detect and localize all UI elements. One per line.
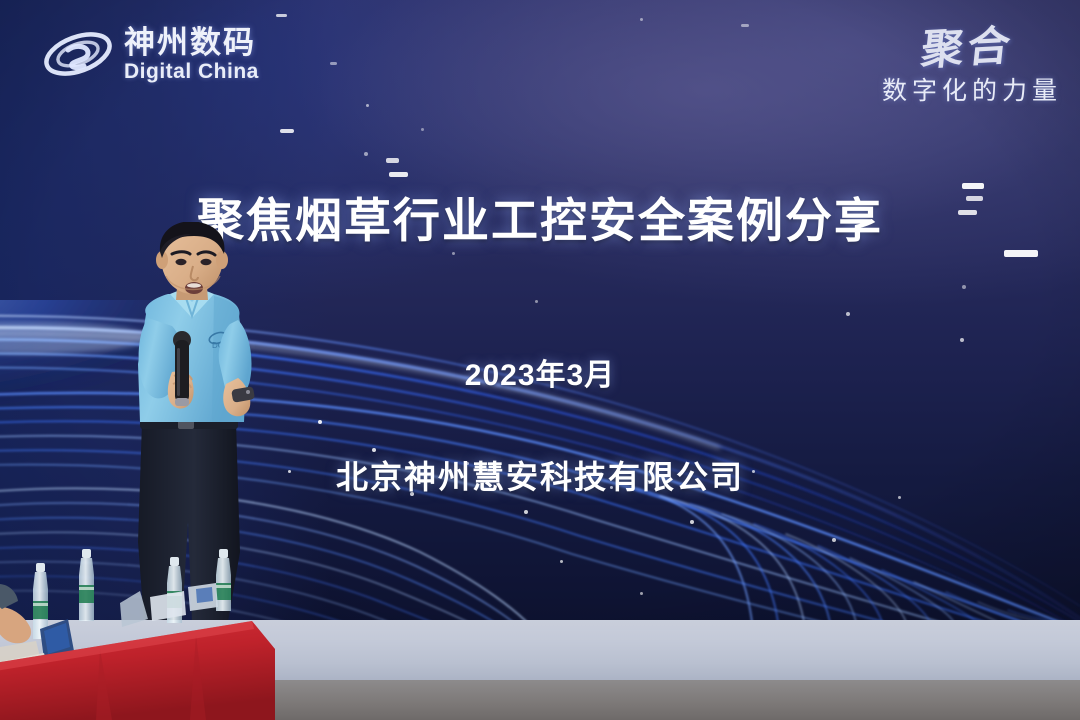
event-theme-logo: 聚合 数字化的力量 [792,14,1062,114]
panel-table [0,545,275,720]
microphone [173,331,191,406]
logo-english-text: Digital China [124,61,259,82]
digital-china-wordmark: 神州数码 Digital China [124,27,259,82]
swirl-galaxy-icon [42,24,114,84]
logo-chinese-text: 神州数码 [124,27,259,58]
conference-stage-photo: 神州数码 Digital China 聚合 数字化的力量 聚焦烟草行业工控安全案… [0,0,1080,720]
seated-attendee-arm [0,584,31,643]
digital-china-logo: 神州数码 Digital China [42,18,312,90]
event-calligraphy-text: 聚合 [918,12,1017,78]
